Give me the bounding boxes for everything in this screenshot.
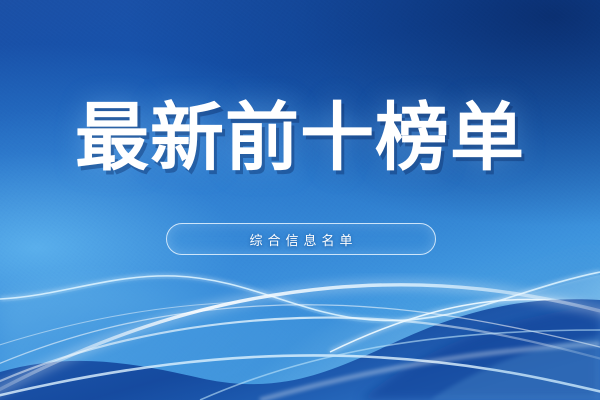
subtitle-badge: 综合信息名单 bbox=[166, 223, 436, 255]
wave-graphics bbox=[0, 0, 600, 400]
page-title: 最新前十榜单 bbox=[0, 96, 600, 180]
title-block: 最新前十榜单 bbox=[0, 96, 600, 180]
subtitle-label: 综合信息名单 bbox=[244, 230, 357, 249]
promo-banner: 最新前十榜单 综合信息名单 bbox=[0, 0, 600, 400]
